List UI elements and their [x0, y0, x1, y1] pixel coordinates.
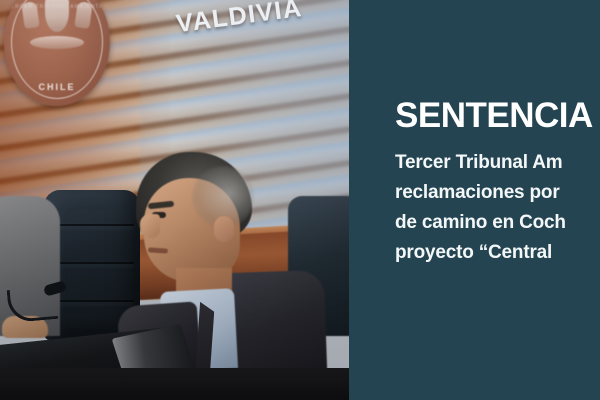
chile-coat-of-arms-plaque: TERCER TRIBUNAL AMBIENTAL CHILE [4, 0, 110, 106]
plaque-label: CHILE [4, 82, 110, 92]
subject-nose [140, 214, 160, 238]
text-block: SENTENCIA Tercer Tribunal Am reclamacion… [395, 98, 600, 268]
text-panel: SENTENCIA Tercer Tribunal Am reclamacion… [349, 0, 600, 400]
subject-ear [214, 216, 234, 242]
banner-image: TERCER TRIBUNAL AMBIENTAL CHILE VALDIVIA [0, 0, 600, 400]
body-line-2: reclamaciones por [395, 178, 600, 208]
body-line-1: Tercer Tribunal Am [395, 148, 600, 178]
plaque-scroll [30, 36, 84, 49]
courtroom-photo: TERCER TRIBUNAL AMBIENTAL CHILE VALDIVIA [0, 0, 349, 400]
foreground-desk-surface [0, 368, 349, 400]
body-line-4: proyecto “Central [395, 238, 600, 268]
headline: SENTENCIA [395, 98, 600, 135]
body-line-3: de camino en Coch [395, 208, 600, 238]
